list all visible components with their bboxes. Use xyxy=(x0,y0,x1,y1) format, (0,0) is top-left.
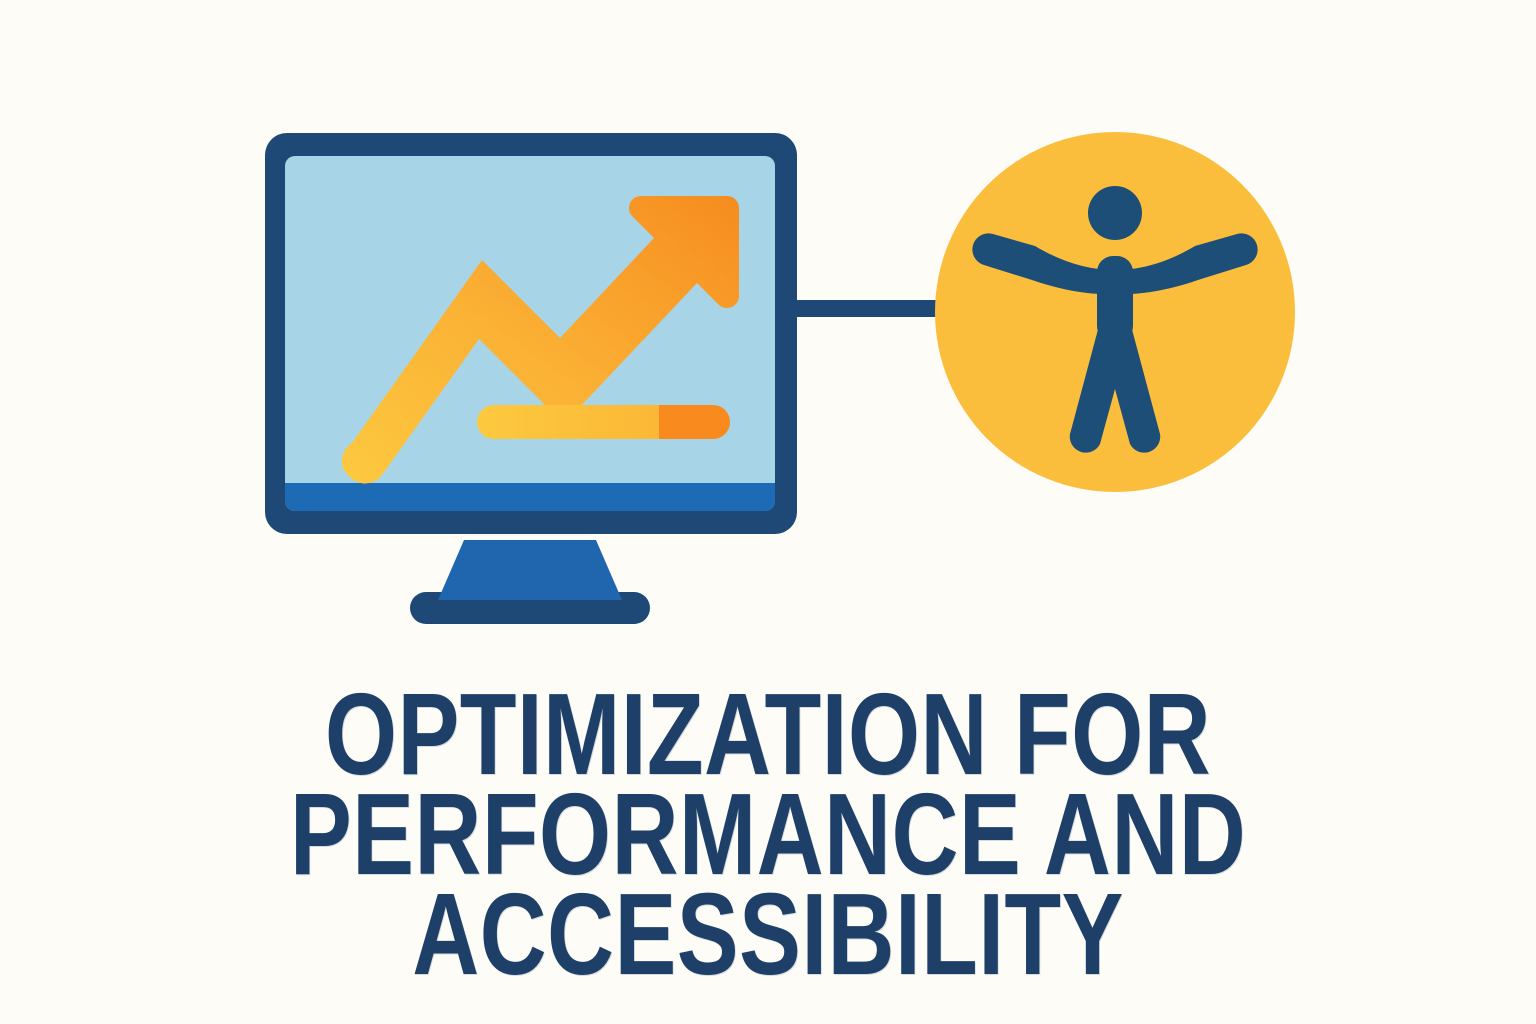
monitor-stand xyxy=(438,540,622,600)
illustration-svg xyxy=(0,0,1536,660)
progress-bar-fill xyxy=(659,405,730,439)
performance-progress-bar xyxy=(477,405,730,439)
screen-taskbar-band xyxy=(285,483,775,513)
illustration-area xyxy=(0,0,1536,660)
title-line-3: ACCESSIBILITY xyxy=(154,884,1383,984)
connector-line xyxy=(780,300,950,317)
accessibility-badge[interactable] xyxy=(935,132,1295,492)
poster-canvas: OPTIMIZATION FOR PERFORMANCE AND ACCESSI… xyxy=(0,0,1536,1024)
desktop-monitor[interactable] xyxy=(265,133,797,624)
page-title: OPTIMIZATION FOR PERFORMANCE AND ACCESSI… xyxy=(0,684,1536,984)
